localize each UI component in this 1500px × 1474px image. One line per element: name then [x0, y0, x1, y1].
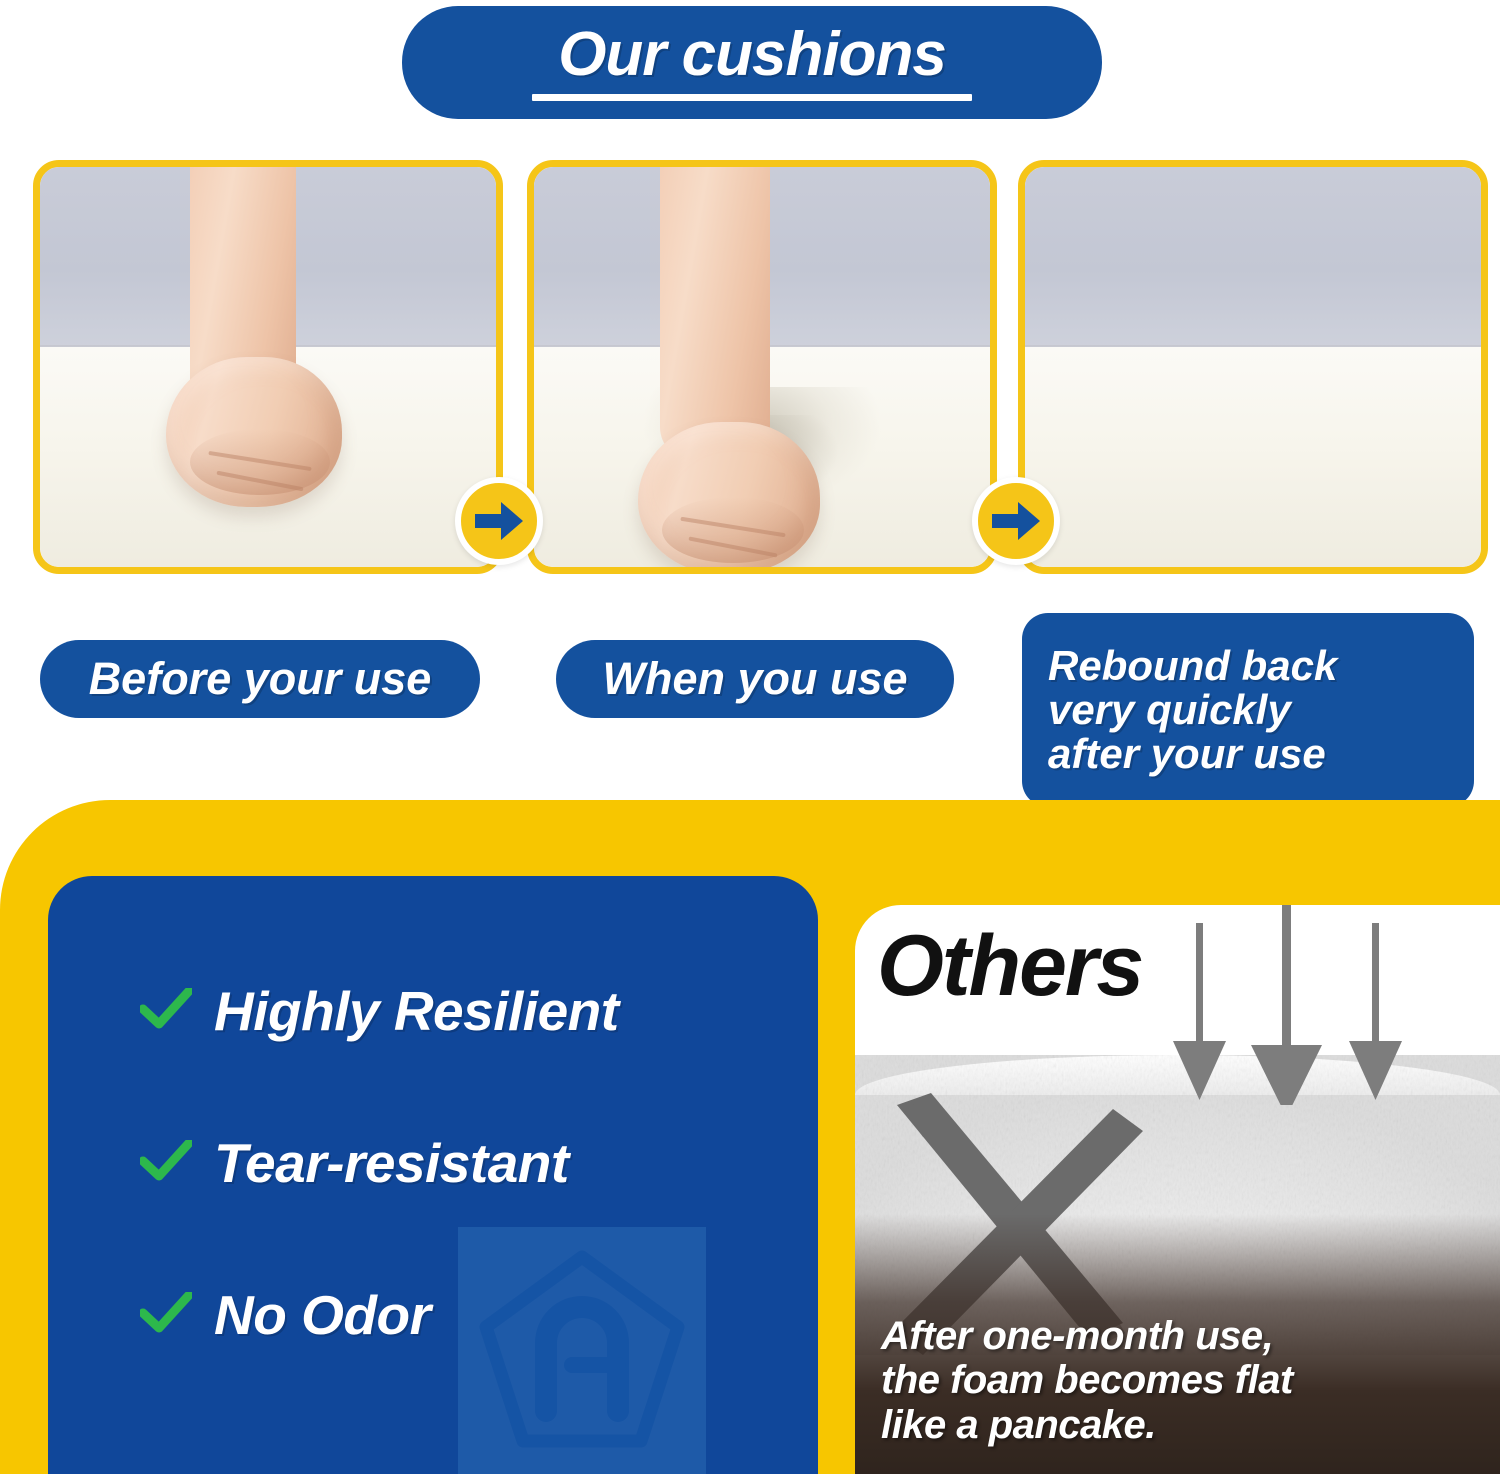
caption-text-line-3: after your use [1048, 732, 1326, 776]
feature-label: Highly Resilient [214, 979, 619, 1043]
check-icon [140, 1292, 192, 1339]
arrow-down-icon [1155, 905, 1425, 1105]
caption-pill-before: Before your use [40, 640, 480, 718]
caption-text-line-1: Rebound back [1048, 644, 1337, 688]
others-caption: After one-month use, the foam becomes fl… [881, 1314, 1481, 1448]
arrow-right-icon [972, 477, 1060, 565]
caption-text-line-2: very quickly [1048, 688, 1291, 732]
others-caption-line-1: After one-month use, [881, 1314, 1481, 1359]
page-title-banner: Our cushions [402, 6, 1102, 119]
feature-label: No Odor [214, 1283, 430, 1347]
knuckle-shade [662, 497, 804, 563]
title-underline [532, 94, 972, 101]
pentagon-a-logo-watermark [458, 1227, 706, 1474]
step-photo-during [527, 160, 997, 574]
check-icon [140, 988, 192, 1035]
caption-text: When you use [602, 653, 907, 705]
feature-item: Tear-resistant [140, 1124, 780, 1202]
caption-pill-during: When you use [556, 640, 954, 718]
demo-photo-strip [0, 160, 1500, 580]
check-icon [140, 1140, 192, 1187]
page-title: Our cushions [558, 24, 946, 86]
photo-scene-during [534, 167, 990, 567]
others-caption-line-2: the foam becomes flat [881, 1358, 1481, 1403]
feature-label: Tear-resistant [214, 1131, 569, 1195]
others-title: Others [877, 923, 1142, 1009]
forearm-shape [660, 161, 770, 461]
step-photo-after [1018, 160, 1488, 574]
photo-background-wall [1025, 167, 1481, 355]
feature-item: Highly Resilient [140, 972, 780, 1050]
foam-surface [1025, 347, 1481, 567]
caption-pill-after: Rebound back very quickly after your use [1022, 613, 1474, 807]
caption-text: Before your use [89, 653, 432, 705]
photo-scene-after [1025, 167, 1481, 567]
photo-scene-before [40, 167, 496, 567]
step-photo-before [33, 160, 503, 574]
others-caption-line-3: like a pancake. [881, 1403, 1481, 1448]
others-comparison-card: Others After one-month use, the foam bec… [855, 905, 1500, 1474]
arrow-right-icon [455, 477, 543, 565]
